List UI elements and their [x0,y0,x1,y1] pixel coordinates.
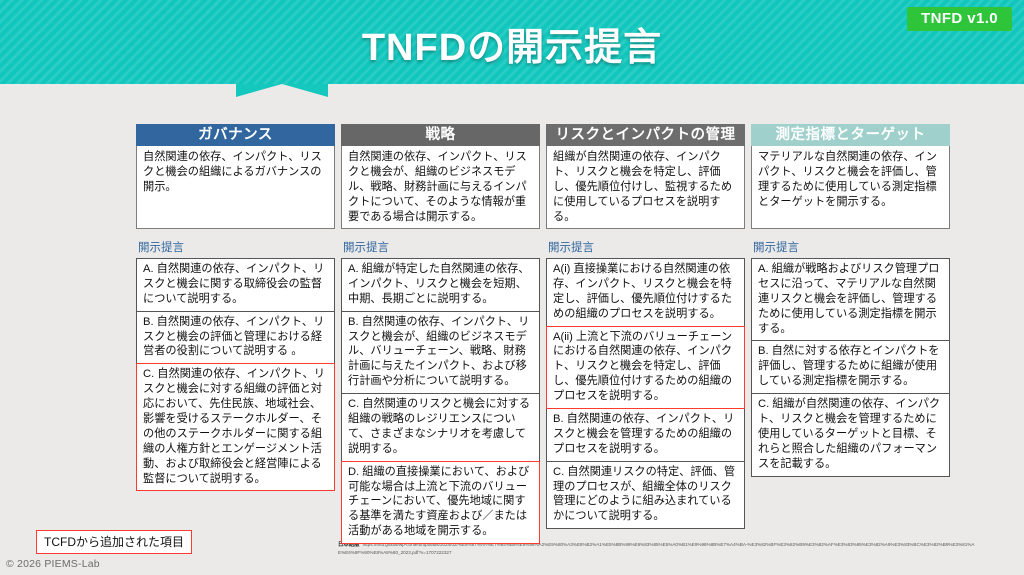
version-badge: TNFD v1.0 [907,7,1012,31]
recommendation-list-metrics-targets: A. 組織が戦略およびリスク管理プロセスに沿って、マテリアルな自然関連リスクと機… [751,258,950,477]
pillar-column-risk-impact-management: リスクとインパクトの管理 組織が自然関連の依存、インパクト、リスクと機会を特定し… [546,124,745,544]
recommendation-item: B. 自然関連の依存、インパクト、リスクと機会が、組織のビジネスモデル、バリュー… [341,311,540,394]
recommendation-item: B. 自然関連の依存、インパクト、リスクと機会を管理するための組織のプロセスを説… [546,408,745,462]
pillar-column-metrics-targets: 測定指標とターゲット マテリアルな自然関連の依存、インパクト、リスクと機会を評価… [751,124,950,544]
recommendation-item-highlighted: D. 組織の直接操業において、および可能な場合は上流と下流のバリューチェーンにお… [341,461,540,544]
pillar-header-risk-impact-management: リスクとインパクトの管理 [546,124,745,146]
pillar-column-governance: ガバナンス 自然関連の依存、インパクト、リスクと機会の組織によるガバナンスの開示… [136,124,335,544]
pillar-columns: ガバナンス 自然関連の依存、インパクト、リスクと機会の組織によるガバナンスの開示… [136,124,976,544]
recommendation-item: A(i) 直接操業における自然関連の依存、インパクト、リスクと機会を特定し、評価… [546,258,745,327]
recommendation-item: B. 自然に対する依存とインパクトを評価し、管理するために組織が使用している測定… [751,340,950,394]
recommendation-item: A. 自然関連の依存、インパクト、リスクと機会に関する取締役会の監督について説明… [136,258,335,312]
recommendation-label-strategy: 開示提言 [341,239,540,255]
recommendation-list-strategy: A. 組織が特定した自然関連の依存、インパクト、リスクと機会を短期、中期、長期ご… [341,258,540,544]
pillar-column-strategy: 戦略 自然関連の依存、インパクト、リスクと機会が、組織のビジネスモデル、戦略、財… [341,124,540,544]
pillar-description-governance: 自然関連の依存、インパクト、リスクと機会の組織によるガバナンスの開示。 [136,146,335,229]
recommendation-item: B. 自然関連の依存、インパクト、リスクと機会の評価と管理における経営者の役割に… [136,311,335,365]
recommendation-item-highlighted: C. 自然関連の依存、インパクト、リスクと機会に対する組織の評価と対応において、… [136,363,335,491]
recommendation-item: C. 自然関連のリスクと機会に対する組織の戦略のレジリエンスについて、さまざまな… [341,393,540,462]
pillar-description-metrics-targets: マテリアルな自然関連の依存、インパクト、リスクと機会を評価し、管理するために使用… [751,146,950,229]
recommendation-item: C. 自然関連リスクの特定、評価、管理のプロセスが、組織全体のリスク管理にどのよ… [546,461,745,530]
pillar-description-risk-impact-management: 組織が自然関連の依存、インパクト、リスクと機会を特定し、評価し、優先順位付けし、… [546,146,745,229]
copyright-notice: © 2026 PIEMS-Lab [6,558,100,570]
pillar-header-metrics-targets: 測定指標とターゲット [751,124,950,146]
pillar-header-strategy: 戦略 [341,124,540,146]
recommendation-item: A. 組織が戦略およびリスク管理プロセスに沿って、マテリアルな自然関連リスクと機… [751,258,950,341]
recommendation-item-highlighted: A(ii) 上流と下流のバリューチェーンにおける自然関連の依存、インパクト、リス… [546,326,745,409]
pillar-header-governance: ガバナンス [136,124,335,146]
pillar-description-strategy: 自然関連の依存、インパクト、リスクと機会が、組織のビジネスモデル、戦略、財務計画… [341,146,540,229]
slide-header: TNFDの開示提言 TNFD v1.0 [0,0,1024,84]
slide-root: TNFDの開示提言 TNFD v1.0 ガバナンス 自然関連の依存、インパクト、… [0,0,1024,575]
legend-tcfd-added-items: TCFDから追加された項目 [36,530,192,554]
recommendation-list-risk-impact-management: A(i) 直接操業における自然関連の依存、インパクト、リスクと機会を特定し、評価… [546,258,745,529]
recommendation-label-metrics-targets: 開示提言 [751,239,950,255]
recommendation-list-governance: A. 自然関連の依存、インパクト、リスクと機会に関する取締役会の監督について説明… [136,258,335,491]
recommendation-item: A. 組織が特定した自然関連の依存、インパクト、リスクと機会を短期、中期、長期ご… [341,258,540,312]
page-title: TNFDの開示提言 [0,16,1024,71]
header-notch-triangle [236,84,328,97]
recommendation-item: C. 組織が自然関連の依存、インパクト、リスクと機会を管理するために使用している… [751,393,950,476]
recommendation-label-governance: 開示提言 [136,239,335,255]
recommendation-label-risk-impact-management: 開示提言 [546,239,745,255]
